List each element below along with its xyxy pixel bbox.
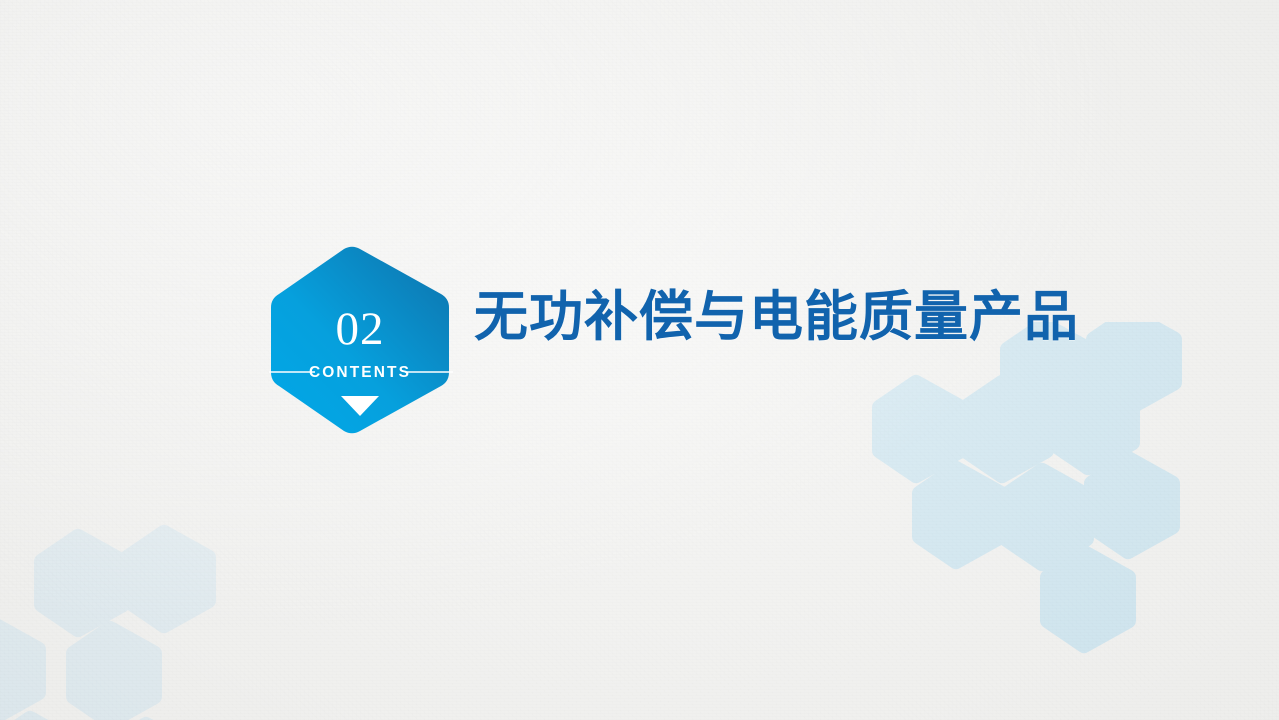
badge-contents-label: CONTENTS <box>309 364 411 381</box>
slide-canvas: 02 CONTENTS 无功补偿与电能质量产品 <box>0 0 1279 720</box>
honeycomb-cluster-right <box>870 322 1270 720</box>
section-number-badge[interactable]: 02 CONTENTS <box>265 246 455 434</box>
badge-number: 02 <box>336 303 385 355</box>
page-title: 无功补偿与电能质量产品 <box>474 290 1079 344</box>
honeycomb-cluster-bottom-left <box>0 520 320 720</box>
